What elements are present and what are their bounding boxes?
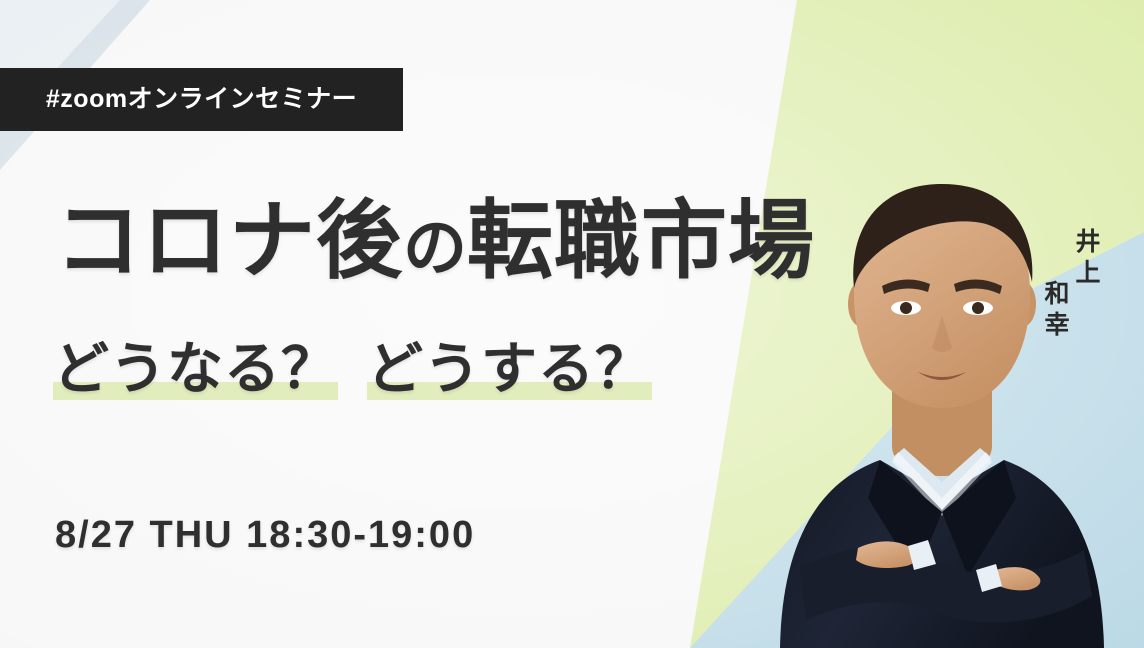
portrait-pupil-right <box>972 302 984 314</box>
speaker-name-column-1: 井上 <box>1073 228 1098 342</box>
page-subtitle: どうなる？どうする？ <box>53 330 652 408</box>
badge-label: #zoomオンラインセミナー <box>46 87 357 112</box>
headline-part1: コロナ後 <box>55 193 403 289</box>
seminar-tag-badge: #zoomオンラインセミナー <box>0 68 403 131</box>
headline-particle: の <box>403 212 467 284</box>
subtitle-segment-2: どうする？ <box>367 330 652 408</box>
speaker-name: 和幸 井上 <box>1042 228 1098 342</box>
subtitle-segment-1: どうなる？ <box>53 330 338 408</box>
seminar-banner: #zoomオンラインセミナー コロナ後の転職市場 どうなる？どうする？ 8/27… <box>0 0 1144 648</box>
headline-part2: 転職市場 <box>467 193 815 289</box>
schedule-datetime: 8/27 THU 18:30-19:00 <box>55 516 475 554</box>
speaker-name-column-2: 和幸 <box>1042 280 1067 342</box>
portrait-pupil-left <box>900 302 912 314</box>
page-title: コロナ後の転職市場 <box>55 198 815 284</box>
